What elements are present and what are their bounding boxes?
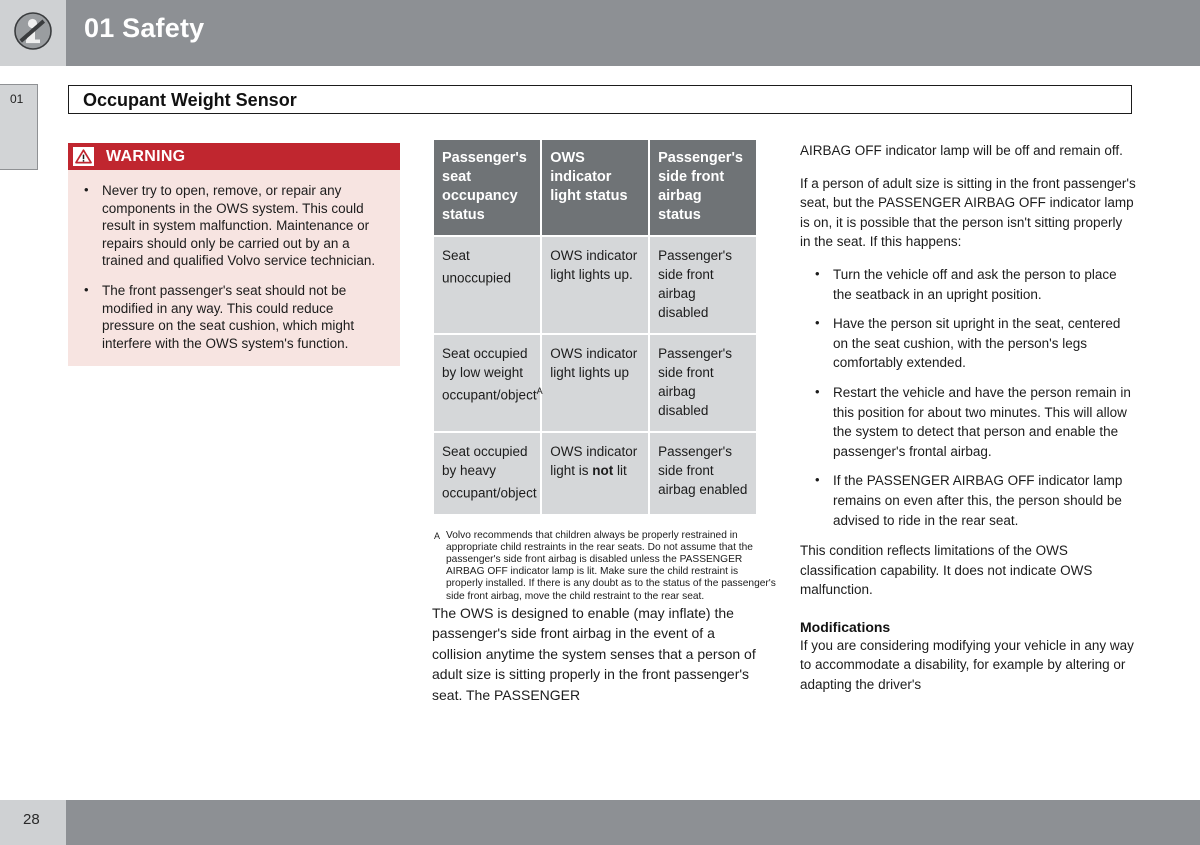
list-item: Restart the vehicle and have the person …	[833, 383, 1136, 461]
cell-airbag: Passenger's side front airbag disabled	[650, 237, 756, 333]
warning-bullet: The front passenger's seat should not be…	[102, 282, 386, 352]
cell-indicator: OWS indicator light is not lit	[542, 433, 648, 514]
table-footnote: A Volvo recommends that children always …	[432, 530, 776, 603]
footnote-marker: A	[434, 530, 440, 542]
cell-indicator: OWS indicator light lights up	[542, 335, 648, 431]
table-row: Seat occupied by heavy occupant/object O…	[434, 433, 756, 514]
ows-status-table: Passenger's seat occupancy status OWS in…	[432, 138, 758, 516]
warning-header: WARNING	[68, 143, 400, 170]
list-item: Have the person sit upright in the seat,…	[833, 314, 1136, 373]
cell-indicator-bold: not	[592, 463, 613, 478]
seatbelt-occupant-icon	[13, 11, 53, 56]
chapter-tab-label: 01	[10, 92, 23, 106]
right-paragraph-2: If a person of adult size is sitting in …	[800, 174, 1136, 252]
cell-occupancy: Seat occupied by low weight occupant/obj…	[434, 335, 540, 431]
cell-airbag: Passenger's side front airbag enabled	[650, 433, 756, 514]
cell-indicator-pre: OWS indicator light lights up	[550, 346, 637, 380]
section-title: Occupant Weight Sensor	[83, 90, 297, 111]
header-icon-cell	[0, 0, 66, 66]
warning-bullet: Never try to open, remove, or repair any…	[102, 182, 386, 270]
right-paragraph-1: AIRBAG OFF indicator lamp will be off an…	[800, 141, 1136, 161]
middle-body-paragraph: The OWS is designed to enable (may infla…	[432, 603, 768, 706]
cell-indicator: OWS indicator light lights up.	[542, 237, 648, 333]
modifications-heading: Modifications	[800, 619, 1136, 635]
table-header-row: Passenger's seat occupancy status OWS in…	[434, 140, 756, 235]
footnote-text: Volvo recommends that children always be…	[446, 530, 776, 602]
table-header-cell: OWS indicator light status	[542, 140, 648, 235]
cell-footnote-marker: A	[537, 386, 543, 396]
warning-bullet-list: Never try to open, remove, or repair any…	[68, 170, 400, 352]
page-number-cell: 28	[0, 800, 66, 845]
warning-triangle-icon	[73, 147, 94, 166]
page-footer: 28	[0, 800, 1200, 845]
list-item: If the PASSENGER AIRBAG OFF indicator la…	[833, 471, 1136, 530]
cell-occupancy: Seat occupied by heavy occupant/object	[434, 433, 540, 514]
cell-occupancy: Seat unoccupied	[434, 237, 540, 333]
table-header-cell: Passenger's seat occupancy status	[434, 140, 540, 235]
right-column: AIRBAG OFF indicator lamp will be off an…	[800, 141, 1136, 708]
cell-indicator-pre: OWS indicator light lights up.	[550, 248, 637, 282]
middle-column: Passenger's seat occupancy status OWS in…	[432, 138, 768, 718]
list-item: Turn the vehicle off and ask the person …	[833, 265, 1136, 304]
cell-occupancy-text: Seat occupied by low weight occupant/obj…	[442, 346, 537, 403]
left-column: WARNING Never try to open, remove, or re…	[68, 143, 400, 366]
table-row: Seat unoccupied OWS indicator light ligh…	[434, 237, 756, 333]
warning-label: WARNING	[106, 148, 185, 166]
chapter-tab-01[interactable]: 01	[0, 84, 38, 170]
section-title-box: Occupant Weight Sensor	[68, 85, 1132, 114]
right-bullet-list: Turn the vehicle off and ask the person …	[800, 265, 1136, 530]
cell-occupancy-text: Seat occupied by heavy occupant/object	[442, 444, 537, 501]
right-paragraph-4: If you are considering modifying your ve…	[800, 636, 1136, 695]
table-header-cell: Passenger's side front airbag status	[650, 140, 756, 235]
warning-box: WARNING Never try to open, remove, or re…	[68, 143, 400, 366]
page-title: 01 Safety	[84, 13, 204, 44]
cell-airbag: Passenger's side front airbag disabled	[650, 335, 756, 431]
page-number: 28	[23, 811, 40, 828]
page-header: 01 Safety	[0, 0, 1200, 66]
cell-indicator-post: lit	[613, 463, 627, 478]
cell-occupancy-text: Seat unoccupied	[442, 248, 511, 286]
table-row: Seat occupied by low weight occupant/obj…	[434, 335, 756, 431]
right-paragraph-3: This condition reflects limitations of t…	[800, 541, 1136, 600]
